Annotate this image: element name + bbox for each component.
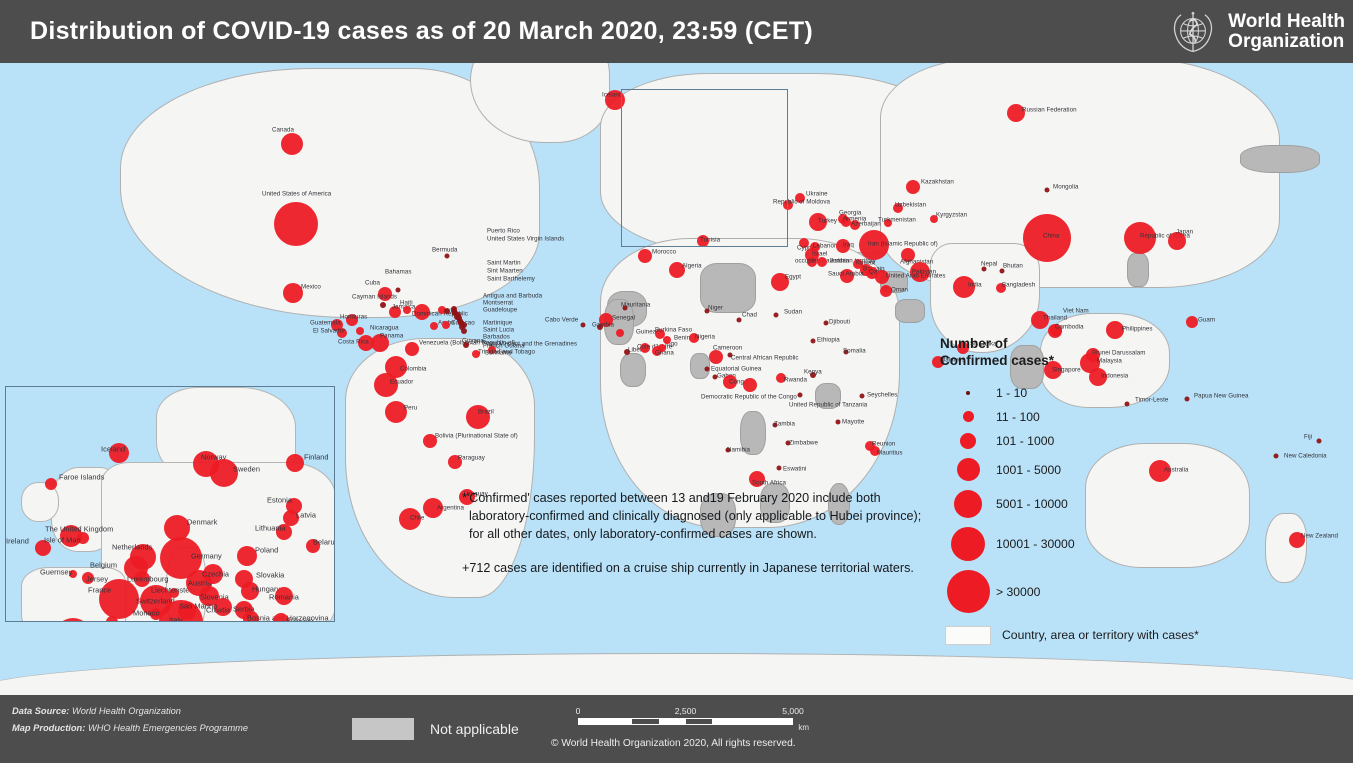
case-bubble[interactable] bbox=[430, 322, 438, 330]
not-applicable-label: Not applicable bbox=[430, 721, 519, 737]
legend-row: 11 - 100 bbox=[940, 405, 1210, 429]
country-label: Azerbaijan bbox=[851, 221, 881, 228]
country-label: Burkina Faso bbox=[655, 327, 692, 334]
country-label: Cayman Islands bbox=[352, 294, 397, 301]
legend-row: 1 - 10 bbox=[940, 381, 1210, 405]
country-label: Russian Federation bbox=[1022, 107, 1077, 114]
country-label: New Zealand bbox=[1301, 533, 1338, 540]
country-label: Seychelles bbox=[867, 392, 897, 399]
legend-row: 1001 - 5000 bbox=[940, 454, 1210, 486]
country-label: Argentina bbox=[437, 505, 464, 512]
legend-bin-label: 11 - 100 bbox=[996, 410, 1040, 424]
country-label: Saint Barthelemy bbox=[487, 276, 535, 283]
landmass-antarctica bbox=[0, 653, 1353, 695]
country-label: Zambia bbox=[774, 421, 795, 428]
case-bubble[interactable] bbox=[281, 133, 303, 155]
legend-rows: 1 - 1011 - 100101 - 10001001 - 50005001 … bbox=[940, 381, 1210, 618]
case-bubble[interactable] bbox=[444, 308, 450, 314]
inset-case-bubble[interactable] bbox=[252, 621, 266, 622]
inset-country-label: Latvia bbox=[296, 511, 316, 520]
inset-country-label: Sweden bbox=[233, 465, 260, 474]
country-label: Gambia bbox=[592, 322, 614, 329]
country-label: Trinidad and Tobago bbox=[478, 349, 535, 356]
country-label: Haiti bbox=[400, 300, 413, 307]
case-bubble[interactable] bbox=[1045, 188, 1050, 193]
not-applicable-region bbox=[895, 299, 925, 323]
country-label: Zimbabwe bbox=[789, 440, 818, 447]
case-bubble[interactable] bbox=[824, 321, 829, 326]
country-label: Central African Republic bbox=[731, 355, 799, 362]
case-bubble[interactable] bbox=[445, 254, 450, 259]
country-label: Costa Rica bbox=[338, 339, 369, 346]
inset-case-bubble[interactable] bbox=[237, 546, 257, 566]
country-label: Guyana bbox=[462, 338, 484, 345]
case-bubble[interactable] bbox=[817, 257, 827, 267]
legend: Number of Confirmed cases* 1 - 1011 - 10… bbox=[940, 335, 1210, 645]
case-bubble[interactable] bbox=[663, 336, 671, 344]
scale-bar-unit: km bbox=[798, 723, 809, 732]
inset-country-label: Ireland bbox=[6, 537, 29, 546]
footnote-confirmed-cases: *'Confirmed' cases reported between 13 a… bbox=[462, 490, 932, 544]
country-label: Niger bbox=[708, 305, 723, 312]
legend-bin-label: 1 - 10 bbox=[996, 386, 1027, 400]
country-label: Paraguay bbox=[458, 455, 485, 462]
country-label: Nicaragua bbox=[370, 325, 399, 332]
inset-country-label: Bulgaria bbox=[286, 617, 314, 623]
country-label: Colombia bbox=[400, 366, 427, 373]
inset-country-label: Lithuania bbox=[255, 524, 285, 533]
scale-bar-graphic bbox=[578, 718, 793, 725]
country-label: Guam bbox=[1198, 317, 1215, 324]
legend-swatch bbox=[940, 411, 996, 422]
country-label: Iraq bbox=[843, 242, 854, 249]
legend-row: 10001 - 30000 bbox=[940, 523, 1210, 566]
legend-swatch bbox=[940, 433, 996, 449]
inset-case-bubble[interactable] bbox=[106, 616, 118, 622]
country-label: Fiji bbox=[1304, 434, 1312, 441]
scale-tick-label: 2,500 bbox=[675, 706, 697, 716]
country-label: China bbox=[1043, 233, 1059, 240]
case-bubble[interactable] bbox=[777, 466, 782, 471]
inset-country-label: Finland bbox=[304, 453, 329, 462]
country-label: United States Virgin Islands bbox=[487, 236, 564, 243]
who-covid-map-page: Distribution of COVID-19 cases as of 20 … bbox=[0, 0, 1353, 763]
inset-case-bubble[interactable] bbox=[45, 478, 57, 490]
country-label: Namibia bbox=[727, 447, 750, 454]
country-label: United Arab Emirates bbox=[886, 273, 945, 280]
case-bubble[interactable] bbox=[1317, 439, 1322, 444]
legend-swatch bbox=[940, 391, 996, 395]
legend-bubble-icon bbox=[954, 490, 982, 518]
legend-swatch bbox=[940, 570, 996, 613]
data-source-value: World Health Organization bbox=[72, 706, 181, 716]
country-label: Saint Vincent and the Grenadines bbox=[483, 341, 577, 348]
legend-bubble-icon bbox=[966, 391, 970, 395]
country-label: Algeria bbox=[682, 263, 702, 270]
country-label: Ukraine bbox=[806, 191, 828, 198]
case-bubble[interactable] bbox=[743, 378, 757, 392]
footnote-cruise-ship: +712 cases are identified on a cruise sh… bbox=[462, 560, 932, 578]
not-applicable-region bbox=[620, 353, 646, 387]
country-label: Montserrat bbox=[483, 300, 513, 307]
case-bubble[interactable] bbox=[737, 318, 742, 323]
page-title: Distribution of COVID-19 cases as of 20 … bbox=[30, 17, 813, 46]
who-wordmark-line2: Organization bbox=[1228, 32, 1345, 52]
who-wordmark: World Health Organization bbox=[1228, 12, 1345, 51]
country-label: Saint Lucia bbox=[483, 327, 514, 334]
inset-country-label: Jersey bbox=[86, 575, 108, 584]
copyright-notice: © World Health Organization 2020, All ri… bbox=[551, 738, 796, 749]
scale-tick-label: 5,000 bbox=[782, 706, 804, 716]
legend-bin-label: 5001 - 10000 bbox=[996, 497, 1068, 511]
country-label: Uzbekistan bbox=[895, 202, 926, 209]
country-label: Saudi Arabia bbox=[828, 271, 864, 278]
inset-country-label: Monaco bbox=[133, 609, 160, 618]
legend-row: > 30000 bbox=[940, 566, 1210, 618]
legend-bubble-icon bbox=[947, 570, 990, 613]
case-bubble[interactable] bbox=[616, 329, 624, 337]
country-label: Jordan bbox=[830, 258, 849, 265]
inset-country-label: Luxembourg bbox=[127, 575, 169, 584]
legend-bin-label: 1001 - 5000 bbox=[996, 463, 1061, 477]
case-bubble[interactable] bbox=[1186, 316, 1198, 328]
legend-area-row: Country, area or territory with cases* bbox=[940, 626, 1210, 645]
case-bubble[interactable] bbox=[461, 328, 467, 334]
country-label: Japan bbox=[1176, 229, 1193, 236]
footnotes: *'Confirmed' cases reported between 13 a… bbox=[462, 490, 932, 578]
legend-bin-label: 10001 - 30000 bbox=[996, 537, 1075, 551]
legend-bin-label: 101 - 1000 bbox=[996, 434, 1054, 448]
not-applicable-legend: Not applicable bbox=[352, 718, 519, 740]
case-bubble[interactable] bbox=[380, 302, 386, 308]
data-source-line: Data Source: World Health Organization bbox=[12, 703, 248, 720]
who-emblem-icon bbox=[1166, 5, 1220, 59]
country-label: Mongolia bbox=[1053, 184, 1079, 191]
country-label: Cabo Verde bbox=[545, 317, 578, 324]
country-label: Lebanon bbox=[813, 243, 837, 250]
inset-country-label: Iceland bbox=[101, 445, 125, 454]
country-label: Kyrgyzstan bbox=[936, 212, 967, 219]
country-label: Saint Martin bbox=[487, 260, 521, 267]
country-label: Bahamas bbox=[385, 269, 412, 276]
country-label: Mauritania bbox=[621, 302, 650, 309]
legend-area-swatch bbox=[945, 626, 991, 645]
who-logo: World Health Organization bbox=[1166, 4, 1345, 60]
case-bubble[interactable] bbox=[405, 342, 419, 356]
inset-country-label: Poland bbox=[255, 546, 278, 555]
country-label: United States of America bbox=[262, 191, 331, 198]
legend-bubble-icon bbox=[957, 458, 980, 481]
country-label: Puerto Rico bbox=[487, 228, 520, 235]
who-wordmark-line1: World Health bbox=[1228, 12, 1345, 32]
map-production-label: Map Production: bbox=[12, 723, 85, 733]
country-label: Reunion bbox=[872, 441, 895, 448]
map-production-value: WHO Health Emergencies Programme bbox=[88, 723, 248, 733]
inset-country-label: Germany bbox=[191, 552, 222, 561]
country-label: Mayotte bbox=[842, 419, 864, 426]
country-label: United Republic of Tanzania bbox=[789, 402, 867, 409]
legend-title: Number of Confirmed cases* bbox=[940, 335, 1210, 370]
landmass-new-zealand bbox=[1265, 513, 1307, 583]
inset-country-label: Netherlands bbox=[112, 543, 152, 552]
country-label: Chile bbox=[410, 515, 424, 522]
country-label: Bolivia (Plurinational State of) bbox=[435, 433, 518, 440]
country-label: Guinea bbox=[636, 329, 656, 336]
country-label: Somalia bbox=[843, 348, 866, 355]
country-label: Turkmenistan bbox=[878, 217, 916, 224]
country-label: Cambodia bbox=[1055, 324, 1084, 331]
case-bubble[interactable] bbox=[638, 249, 652, 263]
case-bubble[interactable] bbox=[442, 321, 450, 329]
legend-row: 5001 - 10000 bbox=[940, 486, 1210, 523]
country-label: South Africa bbox=[752, 480, 786, 487]
legend-swatch bbox=[940, 527, 996, 561]
country-label: Nepal bbox=[981, 261, 997, 268]
inset-country-label: Faroe Islands bbox=[59, 473, 104, 482]
source-block: Data Source: World Health Organization M… bbox=[12, 703, 248, 737]
case-bubble[interactable] bbox=[860, 394, 865, 399]
map-production-line: Map Production: WHO Health Emergencies P… bbox=[12, 720, 248, 737]
inset-country-label: Romania bbox=[269, 593, 299, 602]
country-label: Bermuda bbox=[432, 247, 457, 254]
country-label: Eswatini bbox=[783, 466, 806, 473]
legend-bin-label: > 30000 bbox=[996, 585, 1040, 599]
inset-country-label: San Marino bbox=[179, 602, 217, 611]
country-label: Democratic Republic of the Congo bbox=[701, 394, 797, 401]
country-label: Oman bbox=[891, 287, 908, 294]
country-label: Republic of Moldova bbox=[773, 199, 830, 206]
case-bubble[interactable] bbox=[705, 367, 710, 372]
inset-country-label: Estonia bbox=[267, 496, 292, 505]
country-label: Djibouti bbox=[829, 319, 850, 326]
data-source-label: Data Source: bbox=[12, 706, 69, 716]
inset-country-label: Czechia bbox=[202, 570, 229, 579]
country-label: Panama bbox=[380, 333, 403, 340]
country-label: El Salvador bbox=[313, 328, 345, 335]
country-label: Senegal bbox=[612, 315, 635, 322]
inset-country-label: Andorra bbox=[96, 622, 123, 623]
scale-bar-ticks: 02,5005,000 bbox=[578, 706, 793, 718]
inset-country-label: Guernsey bbox=[40, 568, 72, 577]
country-label: Mexico bbox=[301, 284, 321, 291]
country-label: Equatorial Guinea bbox=[711, 366, 761, 373]
case-bubble[interactable] bbox=[581, 323, 586, 328]
country-label: Honduras bbox=[340, 314, 367, 321]
country-label: Viet Nam bbox=[1063, 308, 1089, 315]
country-label: Tunisia bbox=[700, 237, 720, 244]
case-bubble[interactable] bbox=[836, 420, 841, 425]
country-label: Bangladesh bbox=[1002, 282, 1035, 289]
legend-title-line2: Confirmed cases* bbox=[940, 352, 1210, 369]
case-bubble[interactable] bbox=[274, 202, 318, 246]
country-label: Canada bbox=[272, 127, 294, 134]
scale-bar: 02,5005,000 km bbox=[578, 706, 793, 725]
not-applicable-region bbox=[1240, 145, 1320, 173]
inset-country-label: Isle of Man bbox=[44, 536, 81, 545]
country-label: Guadeloupe bbox=[483, 307, 517, 314]
country-label: Sudan bbox=[784, 309, 802, 316]
country-label: Peru bbox=[404, 405, 417, 412]
case-bubble[interactable] bbox=[798, 393, 803, 398]
country-label: Barbados bbox=[483, 334, 510, 341]
country-label: Rwanda bbox=[784, 377, 807, 384]
country-label: Brazil bbox=[478, 409, 494, 416]
legend-area-label: Country, area or territory with cases* bbox=[1002, 628, 1199, 642]
inset-country-label: Denmark bbox=[187, 518, 217, 527]
scale-tick-label: 0 bbox=[576, 706, 581, 716]
country-label: Philippines bbox=[1122, 326, 1152, 333]
legend-bubble-icon bbox=[951, 527, 985, 561]
case-bubble[interactable] bbox=[906, 180, 920, 194]
page-header: Distribution of COVID-19 cases as of 20 … bbox=[0, 0, 1353, 63]
country-label: Benin bbox=[674, 335, 690, 342]
country-label: Mauritius bbox=[877, 450, 903, 457]
inset-country-label: France bbox=[88, 586, 111, 595]
country-label: Sint Maarten bbox=[487, 268, 523, 275]
country-label: Martinique bbox=[483, 320, 512, 327]
inset-country-label: Belgium bbox=[90, 561, 117, 570]
case-bubble[interactable] bbox=[356, 327, 364, 335]
country-label: Nigeria bbox=[695, 334, 715, 341]
inset-case-bubble[interactable] bbox=[286, 454, 304, 472]
legend-bubble-icon bbox=[963, 411, 974, 422]
legend-bubble-icon bbox=[960, 433, 976, 449]
country-label: Ethiopia bbox=[817, 337, 840, 344]
country-label: Iran (Islamic Republic of) bbox=[868, 241, 938, 248]
country-label: Egypt bbox=[785, 274, 801, 281]
case-bubble[interactable] bbox=[774, 313, 779, 318]
country-label: Iceland bbox=[602, 92, 622, 99]
not-applicable-region bbox=[1127, 253, 1149, 287]
europe-inset-map[interactable]: Faroe IslandsIcelandNorwaySwedenFinlandE… bbox=[5, 386, 335, 622]
country-label: Kazakhstan bbox=[921, 179, 954, 186]
case-bubble[interactable] bbox=[396, 288, 401, 293]
legend-swatch bbox=[940, 490, 996, 518]
country-label: New Caledonia bbox=[1284, 453, 1327, 460]
inset-country-label: Belarus bbox=[313, 538, 335, 547]
country-label: Cuba bbox=[365, 280, 380, 287]
legend-title-line1: Number of bbox=[940, 335, 1210, 352]
case-bubble[interactable] bbox=[283, 283, 303, 303]
case-bubble[interactable] bbox=[811, 339, 816, 344]
country-label: Ecuador bbox=[390, 379, 413, 386]
country-label: Kenya bbox=[804, 369, 822, 376]
country-label: Guatemala bbox=[310, 320, 341, 327]
legend-swatch bbox=[940, 458, 996, 481]
country-label: Thailand bbox=[1043, 315, 1067, 322]
country-label: Bhutan bbox=[1003, 263, 1023, 270]
country-label: Antigua and Barbuda bbox=[483, 293, 542, 300]
case-bubble[interactable] bbox=[403, 306, 411, 314]
case-bubble[interactable] bbox=[1274, 454, 1279, 459]
country-label: Chad bbox=[742, 312, 757, 319]
not-applicable-swatch bbox=[352, 718, 414, 740]
country-label: Morocco bbox=[652, 249, 676, 256]
inset-country-label: Slovakia bbox=[256, 571, 284, 580]
country-label: Turkey bbox=[818, 218, 837, 225]
case-bubble[interactable] bbox=[709, 350, 723, 364]
legend-row: 101 - 1000 bbox=[940, 429, 1210, 454]
country-label: India bbox=[968, 282, 982, 289]
country-label: Cameroon bbox=[713, 345, 742, 352]
